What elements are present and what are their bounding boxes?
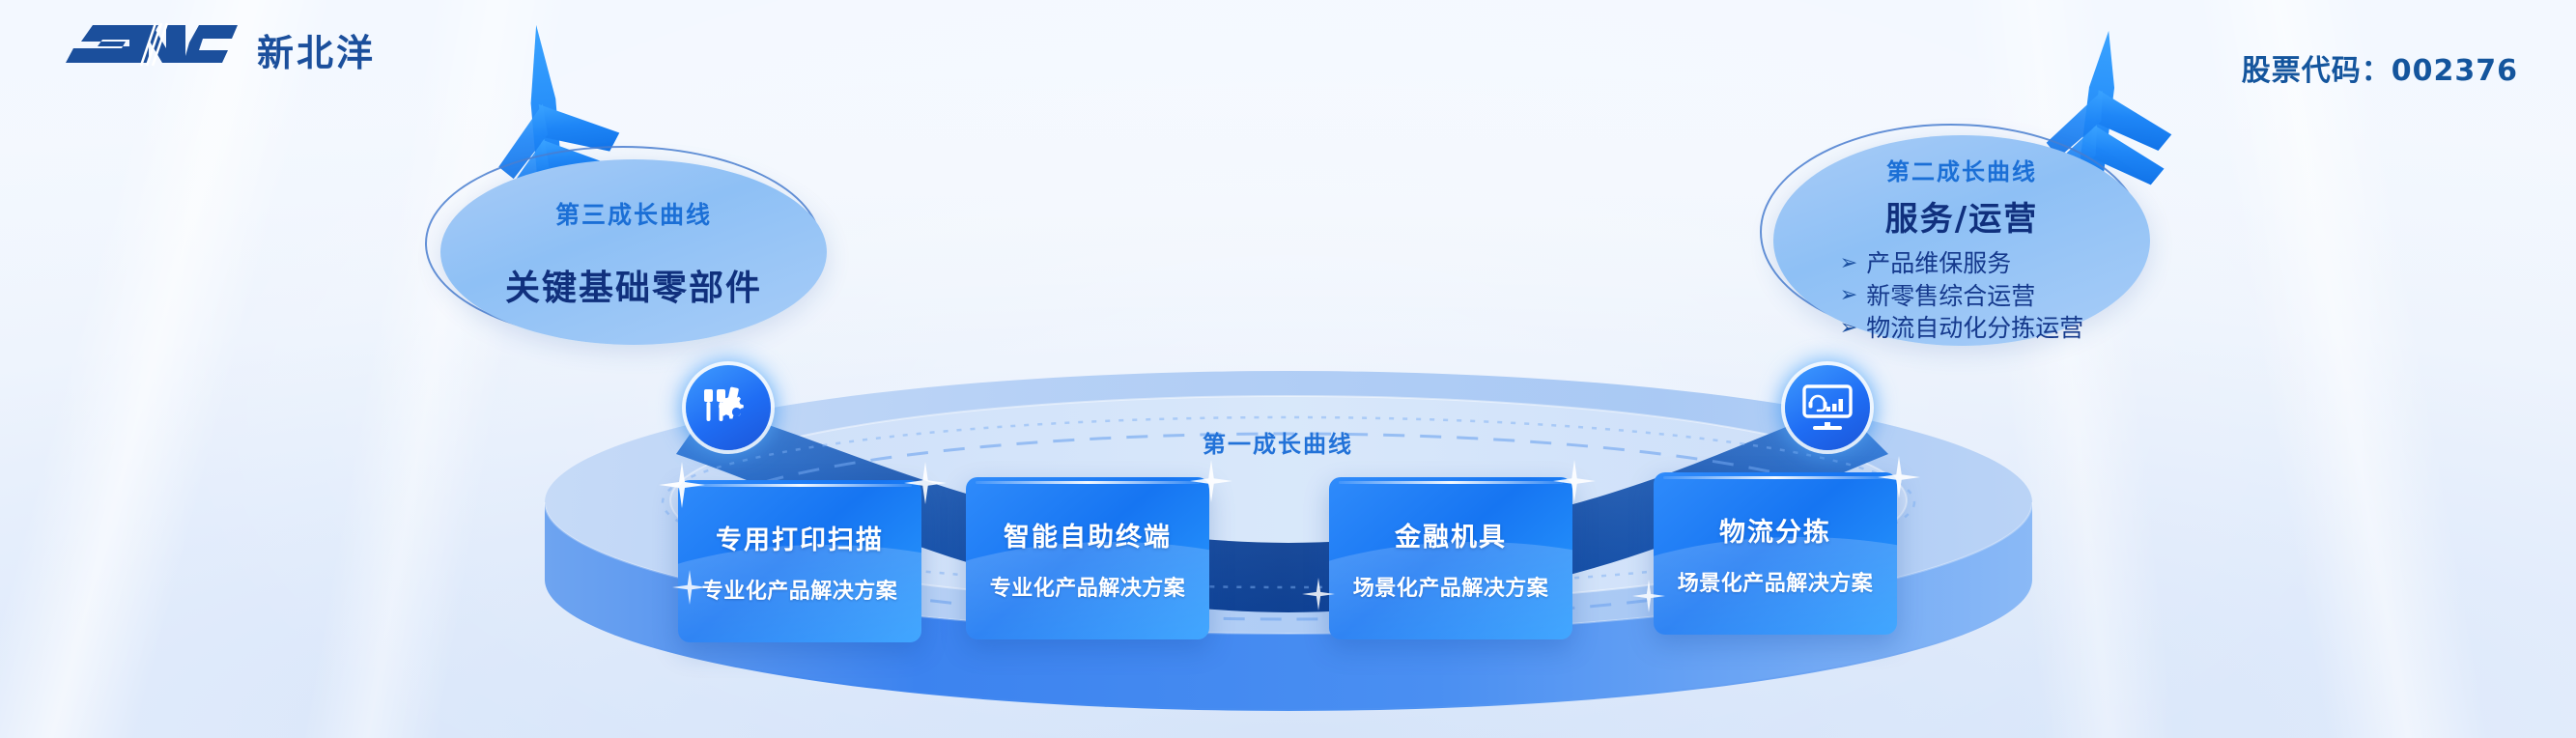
card-subtitle: 专业化产品解决方案	[990, 571, 1186, 602]
first-growth-curve-label: 第一成长曲线	[1203, 425, 1353, 459]
card-top-highlight	[1339, 481, 1563, 484]
bubble-third-growth-curve[interactable]: 第三成长曲线 关键基础零部件	[440, 159, 827, 345]
card-subtitle: 场景化产品解决方案	[1678, 566, 1874, 597]
card-subtitle: 专业化产品解决方案	[702, 574, 898, 605]
card-top-highlight	[688, 484, 912, 487]
monitor-headset-chart-icon[interactable]	[1785, 365, 1870, 450]
card-top-highlight	[976, 481, 1200, 484]
bubble-second-growth-curve[interactable]: 第二成长曲线 服务/运营 ➢ 产品维保服务 ➢ 新零售综合运营 ➢ 物流自动化分…	[1773, 135, 2150, 346]
card-title: 专用打印扫描	[716, 519, 884, 556]
bubble-title: 关键基础零部件	[505, 260, 762, 310]
components-gear-icon[interactable]	[686, 365, 771, 450]
list-item-label: 新零售综合运营	[1866, 280, 2035, 313]
components-gear-glyph	[702, 383, 754, 432]
monitor-headset-chart-glyph	[1800, 383, 1854, 433]
card-title: 金融机具	[1395, 516, 1507, 553]
card-subtitle: 场景化产品解决方案	[1353, 571, 1549, 602]
bubble-content: 第三成长曲线 关键基础零部件	[440, 159, 827, 345]
list-item: ➢ 产品维保服务	[1840, 247, 2083, 280]
bubble-bullet-list: ➢ 产品维保服务 ➢ 新零售综合运营 ➢ 物流自动化分拣运营	[1840, 247, 2083, 345]
list-item-label: 产品维保服务	[1866, 247, 2011, 280]
card-smart-self-service-terminal[interactable]: 智能自助终端 专业化产品解决方案	[966, 477, 1209, 639]
card-logistics-sorting[interactable]: 物流分拣 场景化产品解决方案	[1654, 472, 1897, 635]
list-item: ➢ 新零售综合运营	[1840, 280, 2083, 313]
growth-arrows	[0, 0, 2576, 738]
card-title: 物流分拣	[1719, 511, 1831, 549]
bubble-content: 第二成长曲线 服务/运营 ➢ 产品维保服务 ➢ 新零售综合运营 ➢ 物流自动化分…	[1773, 135, 2150, 346]
bubble-subtitle: 第二成长曲线	[1886, 153, 2037, 186]
bubble-title: 服务/运营	[1885, 192, 2038, 240]
chevron-right-icon: ➢	[1840, 253, 1857, 274]
chevron-right-icon: ➢	[1840, 285, 1857, 306]
list-item: ➢ 物流自动化分拣运营	[1840, 312, 2083, 345]
card-title: 智能自助终端	[1004, 516, 1172, 553]
card-financial-equipment[interactable]: 金融机具 场景化产品解决方案	[1329, 477, 1572, 639]
poster-canvas: 新北洋 股票代码：002376 第三成长曲线 关键基础零部件 第二成长曲线 服务…	[0, 0, 2576, 738]
list-item-label: 物流自动化分拣运营	[1866, 312, 2083, 345]
chevron-right-icon: ➢	[1840, 318, 1857, 339]
card-top-highlight	[1663, 476, 1887, 479]
bubble-subtitle: 第三成长曲线	[555, 196, 712, 231]
card-dedicated-print-scan[interactable]: 专用打印扫描 专业化产品解决方案	[678, 480, 921, 642]
